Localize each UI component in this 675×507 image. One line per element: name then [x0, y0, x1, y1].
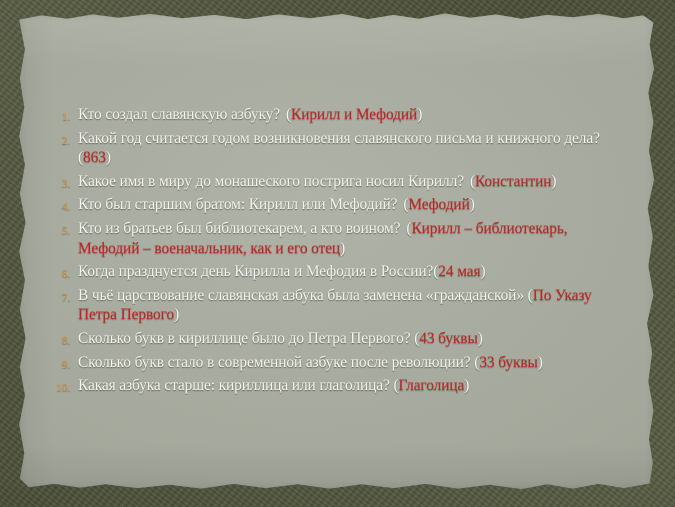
- list-item-number: 5.: [36, 222, 70, 242]
- list-item: 6. Когда празднуется день Кирилла и Мефо…: [30, 262, 630, 282]
- question-text: Какая азбука старше: кириллица или глаго…: [78, 377, 390, 394]
- list-item-number: 8.: [36, 332, 70, 352]
- answer-close-paren: ): [551, 173, 556, 190]
- list-item-number: 3.: [36, 175, 70, 195]
- list-item: 8. Сколько букв в кириллице было до Петр…: [30, 329, 630, 349]
- answer-close-paren: ): [480, 263, 485, 280]
- list-item: 4. Кто был старшим братом: Кирилл или Ме…: [30, 195, 630, 215]
- list-item: 7. В чьё царствование славянская азбука …: [30, 286, 630, 325]
- question-text: В чьё царствование славянская азбука был…: [78, 287, 524, 304]
- list-item-number: 4.: [36, 198, 70, 218]
- answer-close-paren: ): [174, 306, 179, 323]
- list-item-number: 7.: [36, 289, 70, 309]
- question-text: Кто создал славянскую азбуку?: [78, 106, 280, 123]
- list-item-number: 6.: [36, 265, 70, 285]
- question-text: Когда празднуется день Кирилла и Мефодия…: [78, 263, 433, 280]
- list-item-number: 9.: [36, 356, 70, 376]
- list-item: 3. Какое имя в миру до монашеского постр…: [30, 172, 630, 192]
- slide-canvas: 1. Кто создал славянскую азбуку?(Кирилл …: [0, 0, 675, 507]
- list-item: 5. Кто из братьев был библиотекарем, а к…: [30, 219, 630, 258]
- list-item: 10. Какая азбука старше: кириллица или г…: [30, 376, 630, 396]
- answer-text: 33 буквы: [479, 354, 537, 371]
- answer-text: Кирилл и Мефодий: [291, 106, 417, 123]
- list-item: 1. Кто создал славянскую азбуку?(Кирилл …: [30, 105, 630, 125]
- question-text: Кто был старшим братом: Кирилл или Мефод…: [78, 196, 397, 213]
- question-text: Сколько букв стало в современной азбуке …: [78, 354, 471, 371]
- question-text: Какое имя в миру до монашеского пострига…: [78, 173, 464, 190]
- question-text: Сколько букв в кириллице было до Петра П…: [78, 330, 410, 347]
- answer-text: Мефодий: [408, 196, 469, 213]
- answer-close-paren: ): [470, 196, 475, 213]
- question-text: Какой год считается годом возникновения …: [78, 130, 600, 147]
- list-item-number: 2.: [36, 132, 70, 152]
- answer-text: Глаголица: [398, 377, 464, 394]
- answer-close-paren: ): [340, 240, 345, 257]
- answer-text: 24 мая: [438, 263, 480, 280]
- answer-close-paren: ): [417, 106, 422, 123]
- list-item-number: 10.: [36, 379, 70, 399]
- list-item: 2. Какой год считается годом возникновен…: [30, 129, 630, 168]
- answer-close-paren: ): [464, 377, 469, 394]
- quiz-question-list: 1. Кто создал славянскую азбуку?(Кирилл …: [30, 105, 630, 400]
- list-item-number: 1.: [36, 108, 70, 128]
- answer-text: 863: [83, 149, 106, 166]
- answer-close-paren: ): [106, 149, 111, 166]
- answer-text: 43 буквы: [419, 330, 477, 347]
- answer-close-paren: ): [478, 330, 483, 347]
- answer-close-paren: ): [538, 354, 543, 371]
- question-text: Кто из братьев был библиотекарем, а кто …: [78, 220, 400, 237]
- list-item: 9. Сколько букв стало в современной азбу…: [30, 353, 630, 373]
- answer-text: Константин: [475, 173, 551, 190]
